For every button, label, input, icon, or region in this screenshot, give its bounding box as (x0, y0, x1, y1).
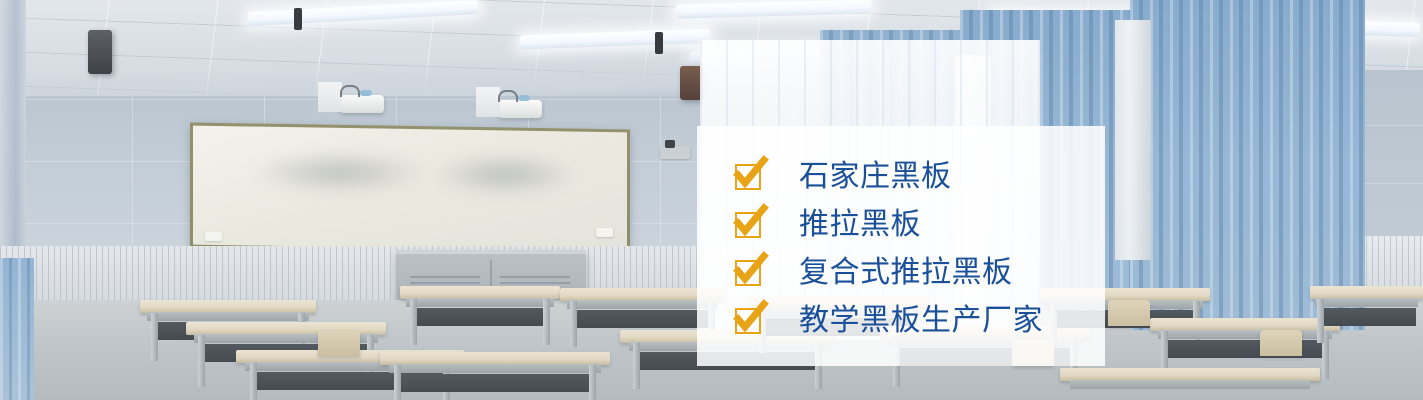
desk-apron (1070, 380, 1309, 389)
projector-cable (498, 90, 518, 102)
projector-mount (476, 87, 500, 117)
student-chair (1260, 330, 1302, 356)
feature-item[interactable]: 石家庄黑板 (697, 153, 1105, 201)
whiteboard-magnet (596, 228, 613, 237)
projector-cable (340, 85, 360, 97)
projector-icon (498, 100, 542, 118)
projector-lens-icon (518, 95, 530, 101)
feature-item[interactable]: 复合式推拉黑板 (697, 249, 1105, 297)
feature-item[interactable]: 教学黑板生产厂家 (697, 297, 1105, 345)
projector-lens-icon (360, 90, 372, 96)
desk-leg (250, 363, 257, 400)
checkbox-checked-icon (735, 260, 761, 286)
podium-vent (410, 282, 480, 284)
wall-pillar (1115, 20, 1151, 260)
ceiling-sensor-icon (655, 32, 663, 54)
wall-speaker-icon (88, 30, 112, 74)
wall-camera-icon (660, 146, 690, 159)
student-chair (318, 330, 360, 356)
desk-leg (543, 299, 550, 345)
student-chair (1108, 300, 1150, 326)
whiteboard-shadow (250, 150, 430, 195)
projector-mount (318, 82, 342, 112)
desk-leg (410, 299, 417, 345)
podium-vent (410, 276, 480, 278)
projector-icon (340, 95, 384, 113)
podium-vent (500, 282, 570, 284)
desk-apron (567, 300, 719, 309)
desk-apron (147, 312, 309, 321)
checkbox-checked-icon (735, 164, 761, 190)
whiteboard-shadow (430, 152, 580, 197)
hero-banner: 石家庄黑板 推拉黑板 复合式推拉黑板 (0, 0, 1423, 400)
desk-apron (1158, 330, 1333, 339)
ceiling-sensor-icon (294, 8, 302, 30)
desk-leg (198, 335, 205, 387)
wall-speaker-icon (680, 66, 702, 100)
desk-apron (406, 298, 553, 307)
feature-item[interactable]: 推拉黑板 (697, 201, 1105, 249)
desk-shelf (1161, 340, 1328, 358)
window-curtain (0, 258, 34, 400)
feature-label: 教学黑板生产厂家 (799, 306, 1043, 336)
student-desk (380, 352, 610, 400)
checkbox-checked-icon (735, 308, 761, 334)
desk-apron (389, 364, 601, 373)
desk-leg (633, 343, 640, 389)
feature-label: 推拉黑板 (799, 210, 921, 240)
desk-apron (1315, 298, 1419, 307)
feature-list: 石家庄黑板 推拉黑板 复合式推拉黑板 (697, 126, 1105, 366)
feature-label: 复合式推拉黑板 (799, 258, 1013, 288)
student-desk (1310, 286, 1423, 344)
desk-shelf (394, 374, 596, 392)
checkbox-checked-icon (735, 212, 761, 238)
desk-shelf (1317, 308, 1416, 326)
desk-leg (570, 301, 577, 347)
podium-vent (500, 276, 570, 278)
desk-leg (394, 365, 401, 400)
desk-leg (1317, 299, 1324, 343)
desk-leg (151, 313, 158, 361)
student-desk (400, 286, 560, 346)
student-desk (1060, 368, 1320, 400)
desk-shelf (410, 308, 551, 326)
desk-leg (589, 365, 596, 400)
whiteboard-magnet (205, 232, 222, 241)
feature-panel: 石家庄黑板 推拉黑板 复合式推拉黑板 (697, 126, 1105, 366)
window-curtain (1130, 0, 1365, 330)
feature-label: 石家庄黑板 (799, 162, 952, 192)
desk-shelf (570, 310, 715, 328)
